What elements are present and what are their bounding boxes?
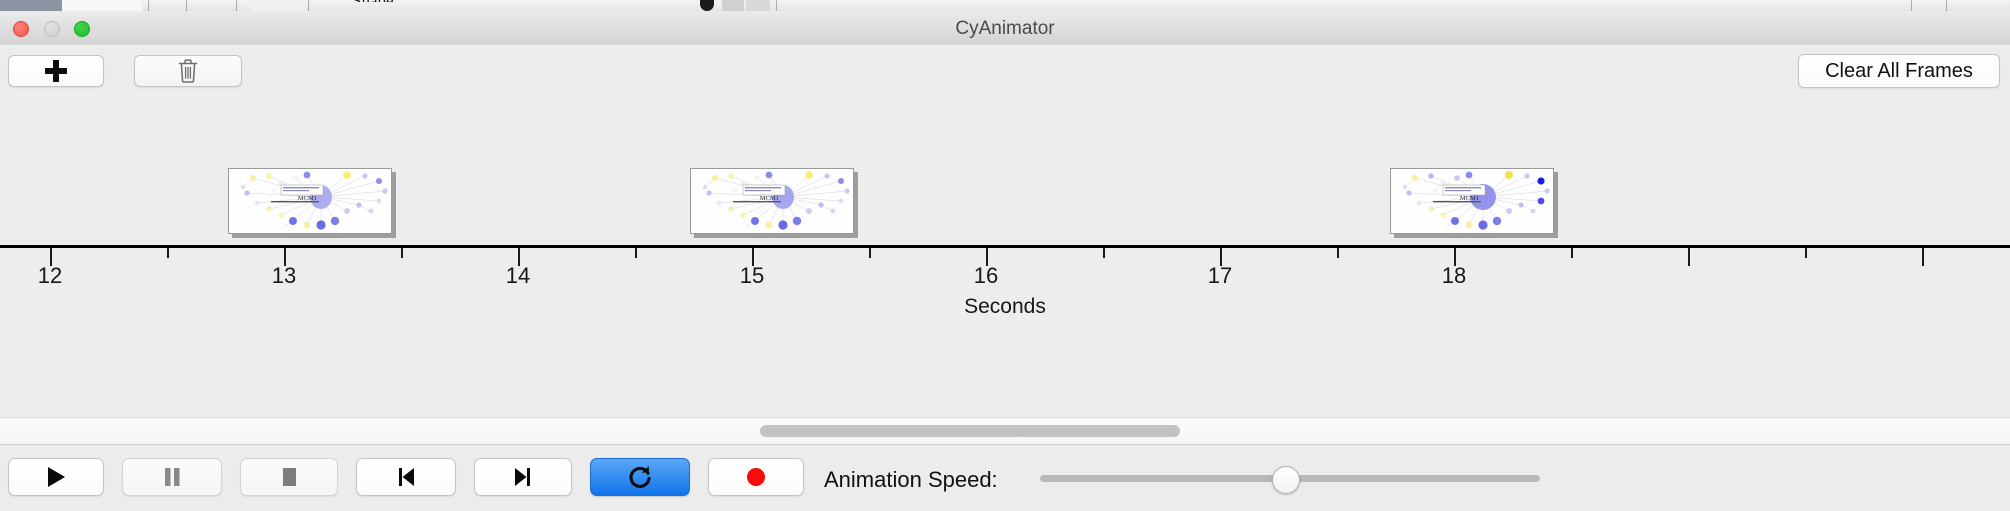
axis-tick-label: 17 <box>1208 263 1232 289</box>
axis-tick-label: 15 <box>740 263 764 289</box>
pause-icon <box>161 465 183 489</box>
axis-tick-minor <box>1805 248 1807 258</box>
axis-tick-minor <box>1337 248 1339 258</box>
title-bar[interactable]: CyAnimator <box>0 11 2010 46</box>
record-button[interactable] <box>708 458 804 496</box>
svg-text:MCM1: MCM1 <box>1460 195 1479 202</box>
bg-separator <box>776 0 777 11</box>
axis-tick-minor <box>869 248 871 258</box>
axis-title: Seconds <box>0 295 2010 319</box>
window-title: CyAnimator <box>0 18 2010 40</box>
skip-next-icon <box>511 465 535 489</box>
timeline-scrollbar[interactable] <box>0 417 2010 445</box>
bg-chunk <box>250 0 306 11</box>
cyanimator-window: Shape CyAnimator Clear All Frames <box>0 0 2010 510</box>
skip-previous-button[interactable] <box>356 458 456 496</box>
loop-icon <box>627 464 653 490</box>
record-icon <box>744 465 768 489</box>
network-thumbnail-graphic: MCM1 <box>1391 169 1553 233</box>
bg-chunk <box>0 0 62 11</box>
skip-next-button[interactable] <box>474 458 572 496</box>
frame-thumbnail[interactable]: MCM1 <box>228 168 392 234</box>
axis-tick-label: 13 <box>272 263 296 289</box>
add-frame-button[interactable] <box>8 55 104 87</box>
axis-tick-major <box>1922 248 1924 266</box>
frame-thumbnail[interactable]: MCM1 <box>690 168 854 234</box>
bg-chunk <box>722 0 744 11</box>
network-thumbnail-graphic: MCM1 <box>229 169 391 233</box>
delete-frame-button[interactable] <box>134 55 242 87</box>
network-thumbnail-graphic: MCM1 <box>691 169 853 233</box>
play-icon <box>45 465 67 489</box>
bg-separator <box>148 0 149 11</box>
timeline-axis-line <box>0 245 2010 248</box>
svg-text:MCM1: MCM1 <box>760 195 779 202</box>
stop-icon <box>278 465 300 489</box>
plus-icon <box>45 60 67 82</box>
axis-tick-minor <box>167 248 169 258</box>
bg-separator <box>236 0 237 11</box>
scrollbar-thumb[interactable] <box>760 425 1180 437</box>
bg-separator <box>1946 0 1947 11</box>
axis-tick-minor <box>401 248 403 258</box>
skip-previous-icon <box>394 465 418 489</box>
clear-all-frames-button[interactable]: Clear All Frames <box>1798 54 2000 88</box>
frame-thumbnail[interactable]: MCM1 <box>1390 168 1554 234</box>
toolbar: Clear All Frames <box>0 45 2010 92</box>
playback-controls: Animation Speed: <box>0 444 2010 511</box>
axis-tick-minor <box>635 248 637 258</box>
play-button[interactable] <box>8 458 104 496</box>
bg-separator <box>1911 0 1912 11</box>
loop-button[interactable] <box>590 458 690 496</box>
bg-window-title: Shape <box>352 0 394 2</box>
timeline-panel[interactable]: MCM1 <box>0 91 2010 417</box>
bg-chunk <box>700 0 714 11</box>
animation-speed-label: Animation Speed: <box>824 467 998 493</box>
svg-text:MCM1: MCM1 <box>298 195 317 202</box>
pause-button[interactable] <box>122 458 222 496</box>
axis-tick-label: 12 <box>38 263 62 289</box>
axis-tick-minor <box>1103 248 1105 258</box>
axis-tick-label: 14 <box>506 263 530 289</box>
bg-chunk <box>746 0 770 11</box>
axis-tick-major <box>1688 248 1690 266</box>
axis-tick-label: 18 <box>1442 263 1466 289</box>
stop-button[interactable] <box>240 458 338 496</box>
trash-icon <box>177 58 199 84</box>
axis-tick-label: 16 <box>974 263 998 289</box>
bg-separator <box>308 0 309 11</box>
bg-separator <box>186 0 187 11</box>
animation-speed-slider-knob[interactable] <box>1272 466 1300 494</box>
axis-tick-minor <box>1571 248 1573 258</box>
bg-chunk <box>62 0 142 11</box>
